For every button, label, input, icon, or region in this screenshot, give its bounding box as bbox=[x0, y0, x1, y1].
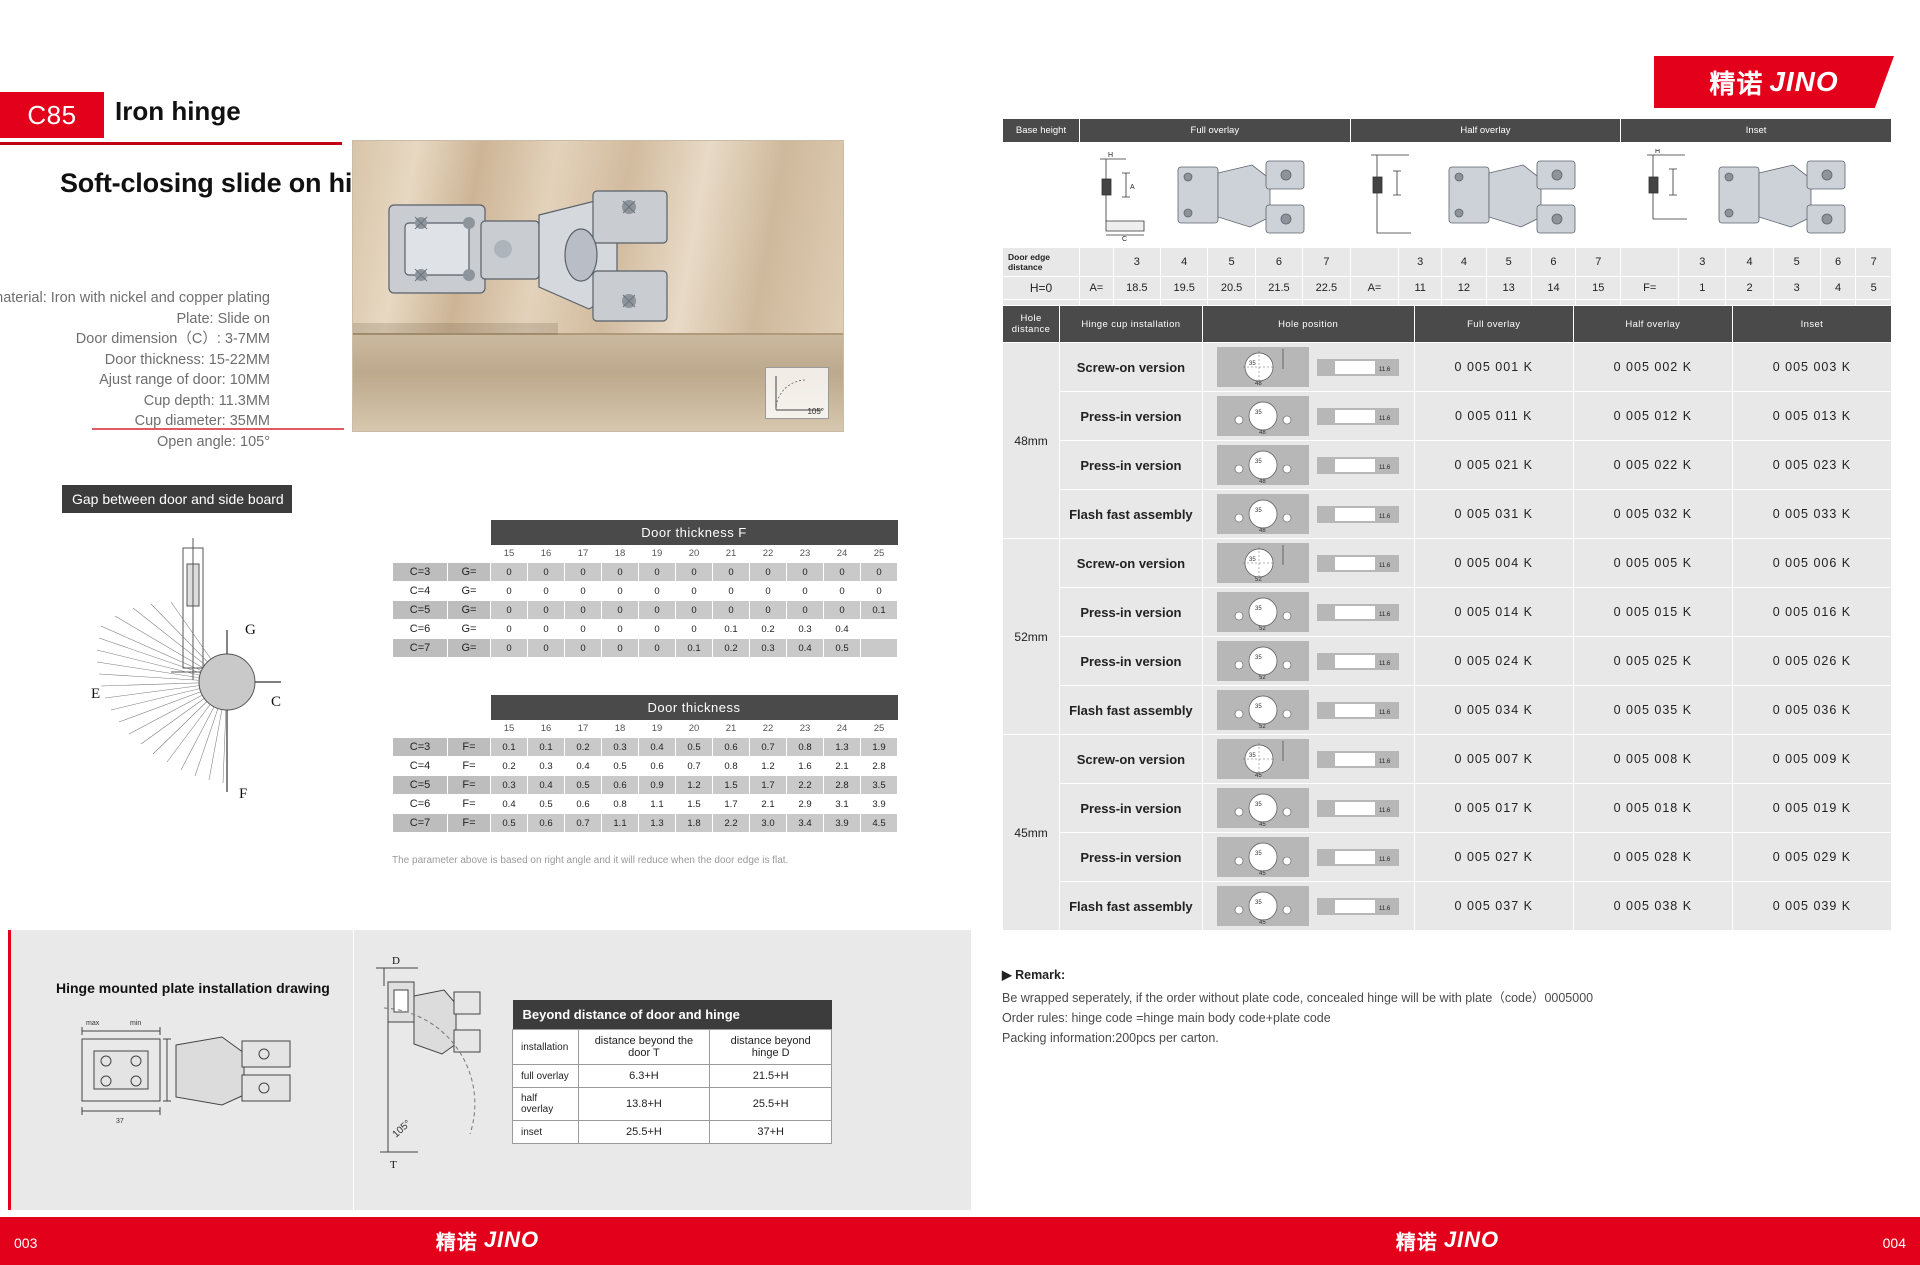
hinge-illustration bbox=[381, 167, 701, 347]
table-row: Press-in version 354811.6 0 005 021 K 0 … bbox=[1003, 441, 1892, 490]
svg-text:35: 35 bbox=[1255, 802, 1262, 808]
remark-block: ▶ Remark: Be wrapped seperately, if the … bbox=[1002, 965, 1702, 1048]
fan-label-E: E bbox=[91, 686, 100, 702]
f-col: 15 bbox=[491, 720, 528, 738]
col-half-overlay: Half overlay bbox=[1350, 119, 1621, 143]
g-col: 25 bbox=[861, 545, 898, 563]
col-hole-distance: Hole distance bbox=[1003, 306, 1060, 343]
label-angle: 105° bbox=[391, 1118, 414, 1140]
g-col: 23 bbox=[787, 545, 824, 563]
svg-text:35: 35 bbox=[1249, 753, 1256, 759]
table-row: 52mm Screw-on version 355211.6 0 005 004… bbox=[1003, 539, 1892, 588]
g-col: 15 bbox=[491, 545, 528, 563]
table-note: The parameter above is based on right an… bbox=[392, 855, 792, 866]
f-col: 23 bbox=[787, 720, 824, 738]
svg-text:52: 52 bbox=[1259, 675, 1266, 681]
f-col: 20 bbox=[676, 720, 713, 738]
brand-cn: 精诺 bbox=[1396, 1226, 1438, 1255]
dim-min: min bbox=[130, 1020, 141, 1027]
table-row: C=4 G= 0 0 0 0 0 0 0 0 0 0 0 bbox=[393, 582, 898, 601]
angle-label: 105° bbox=[807, 407, 824, 416]
col-hinge-cup: Hinge cup installation bbox=[1060, 306, 1202, 343]
svg-text:11.6: 11.6 bbox=[1379, 661, 1391, 667]
brand-en: JINO bbox=[1444, 1227, 1499, 1253]
remark-line: Packing information:200pcs per carton. bbox=[1002, 1028, 1702, 1048]
col-hole-position: Hole position bbox=[1202, 306, 1414, 343]
install-drawing-title: Hinge mounted plate installation drawing bbox=[56, 980, 330, 996]
svg-text:11.6: 11.6 bbox=[1379, 416, 1391, 422]
svg-text:35: 35 bbox=[1255, 655, 1262, 661]
gap-f-table: Door thickness 15 16 17 18 19 20 21 22 2… bbox=[392, 695, 898, 833]
f-col: 25 bbox=[861, 720, 898, 738]
door-overlay-drawing: D T 105° bbox=[358, 952, 488, 1182]
spec-line: Door dimension（C）: 3-7MM bbox=[0, 329, 270, 350]
title-divider bbox=[0, 142, 342, 145]
spec-line: Cup depth: 11.3MM bbox=[0, 391, 270, 412]
spec-line: Door thickness: 15-22MM bbox=[0, 350, 270, 371]
table-row: C=6 F= 0.4 0.5 0.6 0.8 1.1 1.5 1.7 2.1 2… bbox=[393, 795, 898, 814]
svg-text:11.6: 11.6 bbox=[1379, 563, 1391, 569]
fan-label-F: F bbox=[239, 786, 247, 802]
g-col: 20 bbox=[676, 545, 713, 563]
svg-text:35: 35 bbox=[1255, 459, 1262, 465]
brand-cn: 精诺 bbox=[436, 1226, 478, 1255]
svg-text:52: 52 bbox=[1255, 577, 1262, 583]
table-row: inset 25.5+H 37+H bbox=[513, 1121, 832, 1144]
svg-text:A: A bbox=[1130, 184, 1135, 191]
angle-callout: 105° bbox=[765, 367, 829, 419]
table-row: C=6 G= 0 0 0 0 0 0 0.1 0.2 0.3 0.4 bbox=[393, 620, 898, 639]
table-row: half overlay 13.8+H 25.5+H bbox=[513, 1088, 832, 1121]
col-full-overlay: Full overlay bbox=[1080, 119, 1351, 143]
svg-text:35: 35 bbox=[1249, 361, 1256, 367]
gap-g-table: Door thickness F 15 16 17 18 19 20 21 22… bbox=[392, 520, 898, 658]
hole-distance-48: 48mm bbox=[1003, 343, 1060, 539]
svg-text:45: 45 bbox=[1259, 871, 1266, 877]
g-col: 16 bbox=[528, 545, 565, 563]
product-code-table: Hole distance Hinge cup installation Hol… bbox=[1002, 305, 1892, 931]
spec-line: Ajust range of door: 10MM bbox=[0, 370, 270, 391]
headline: Soft-closing slide on hinge bbox=[60, 168, 400, 199]
g-col: 21 bbox=[713, 545, 750, 563]
svg-text:C: C bbox=[1122, 236, 1127, 241]
table-row: C=4 F= 0.2 0.3 0.4 0.5 0.6 0.7 0.8 1.2 1… bbox=[393, 757, 898, 776]
gap-banner: Gap between door and side board bbox=[62, 485, 292, 513]
svg-text:45: 45 bbox=[1255, 773, 1262, 779]
col-inset: Inset bbox=[1621, 119, 1892, 143]
table-row: Press-in version 354811.6 0 005 011 K 0 … bbox=[1003, 392, 1892, 441]
product-code-badge: C85 bbox=[0, 92, 104, 138]
page-number-right: 004 bbox=[1883, 1235, 1906, 1251]
hole-position-graphic: 3548 11.6 bbox=[1207, 347, 1410, 387]
svg-text:11.6: 11.6 bbox=[1379, 514, 1391, 520]
table-row: C=7 G= 0 0 0 0 0 0.1 0.2 0.3 0.4 0.5 bbox=[393, 639, 898, 658]
table-row: Flash fast assembly 355211.6 0 005 034 K… bbox=[1003, 686, 1892, 735]
svg-text:48: 48 bbox=[1255, 381, 1262, 387]
spec-line: Mai material: Iron with nickel and coppe… bbox=[0, 288, 270, 309]
product-type-title: Iron hinge bbox=[115, 96, 241, 127]
svg-text:35: 35 bbox=[1249, 557, 1256, 563]
svg-text:52: 52 bbox=[1259, 626, 1266, 632]
col-half-overlay: Half overlay bbox=[1573, 306, 1732, 343]
g-col: 18 bbox=[602, 545, 639, 563]
footer-logo-left: 精诺 JINO bbox=[402, 1223, 574, 1257]
f-table-title: Door thickness bbox=[491, 695, 898, 720]
table-row: C=3 G= 0 0 0 0 0 0 0 0 0 0 0 bbox=[393, 563, 898, 582]
beyond-distance-table: Beyond distance of door and hinge instal… bbox=[512, 1000, 832, 1144]
f-col: 16 bbox=[528, 720, 565, 738]
panel-divider bbox=[353, 930, 354, 1210]
inset-diagram: H bbox=[1623, 149, 1853, 241]
table-row: Press-in version 354511.6 0 005 017 K 0 … bbox=[1003, 784, 1892, 833]
remark-line: Order rules: hinge code =hinge main body… bbox=[1002, 1008, 1702, 1028]
hole-distance-45: 45mm bbox=[1003, 735, 1060, 931]
svg-text:45: 45 bbox=[1259, 920, 1266, 926]
catalog-spread: C85 Iron hinge Soft-closing slide on hin… bbox=[0, 0, 1920, 1265]
table-row: Press-in version 354511.6 0 005 027 K 0 … bbox=[1003, 833, 1892, 882]
mounted-plate-drawing: max min 37 bbox=[72, 1005, 302, 1135]
svg-text:H: H bbox=[1655, 149, 1660, 155]
g-col: 19 bbox=[639, 545, 676, 563]
svg-text:11.6: 11.6 bbox=[1379, 906, 1391, 912]
full-overlay-diagram: H A C bbox=[1082, 149, 1312, 241]
f-col: 24 bbox=[824, 720, 861, 738]
svg-text:48: 48 bbox=[1259, 528, 1266, 534]
half-overlay-diagram bbox=[1353, 149, 1583, 241]
table-row: C=5 G= 0 0 0 0 0 0 0 0 0 0 0.1 bbox=[393, 601, 898, 620]
svg-text:45: 45 bbox=[1259, 822, 1266, 828]
table-row: full overlay 6.3+H 21.5+H bbox=[513, 1065, 832, 1088]
table-row: 48mm Screw-on version 3548 11.6 0 005 00… bbox=[1003, 343, 1892, 392]
svg-text:35: 35 bbox=[1255, 851, 1262, 857]
svg-text:48: 48 bbox=[1259, 430, 1266, 436]
hole-distance-52: 52mm bbox=[1003, 539, 1060, 735]
svg-text:35: 35 bbox=[1255, 606, 1262, 612]
svg-text:11.6: 11.6 bbox=[1379, 710, 1391, 716]
svg-text:35: 35 bbox=[1255, 508, 1262, 514]
brand-en: JINO bbox=[484, 1227, 539, 1253]
svg-text:52: 52 bbox=[1259, 724, 1266, 730]
f-col: 22 bbox=[750, 720, 787, 738]
col-inset: Inset bbox=[1732, 306, 1891, 343]
fan-label-C: C bbox=[271, 694, 281, 710]
dim-max: max bbox=[86, 1020, 100, 1027]
door-edge-row: Door edge distance 3 4 5 6 7 3 4 5 6 7 3… bbox=[1003, 248, 1892, 277]
page-left: C85 Iron hinge Soft-closing slide on hin… bbox=[0, 0, 975, 1265]
g-col: 17 bbox=[565, 545, 602, 563]
table-row: Press-in version 355211.6 0 005 024 K 0 … bbox=[1003, 637, 1892, 686]
f-col: 17 bbox=[565, 720, 602, 738]
f-col: 21 bbox=[713, 720, 750, 738]
header-logo: 精诺 JINO bbox=[1654, 56, 1894, 108]
svg-text:48: 48 bbox=[1259, 479, 1266, 485]
door-edge-distance-label: Door edge distance bbox=[1003, 248, 1080, 277]
col-hinge-distance: distance beyond hinge D bbox=[710, 1030, 832, 1065]
table-row: C=3 F= 0.1 0.1 0.2 0.3 0.4 0.5 0.6 0.7 0… bbox=[393, 738, 898, 757]
remark-line: Be wrapped seperately, if the order with… bbox=[1002, 988, 1702, 1008]
table-row: H=0 A= 18.5 19.5 20.5 21.5 22.5 A= 11 12… bbox=[1003, 277, 1892, 300]
svg-text:11.6: 11.6 bbox=[1379, 857, 1391, 863]
col-installation: installation bbox=[513, 1030, 579, 1065]
svg-text:11.6: 11.6 bbox=[1379, 808, 1391, 814]
beyond-title: Beyond distance of door and hinge bbox=[513, 1000, 832, 1030]
col-full-overlay: Full overlay bbox=[1414, 306, 1573, 343]
svg-text:35: 35 bbox=[1255, 704, 1262, 710]
spec-line: Plate: Slide on bbox=[0, 309, 270, 330]
fan-label-G: G bbox=[245, 622, 256, 638]
footer-logo-right: 精诺 JINO bbox=[1362, 1223, 1534, 1257]
f-col: 18 bbox=[602, 720, 639, 738]
table-row: C=5 F= 0.3 0.4 0.5 0.6 0.9 1.2 1.5 1.7 2… bbox=[393, 776, 898, 795]
svg-text:11.6: 11.6 bbox=[1379, 612, 1391, 618]
svg-text:11.6: 11.6 bbox=[1379, 759, 1391, 765]
g-table-title: Door thickness F bbox=[491, 520, 898, 545]
product-photo: 105° bbox=[352, 140, 844, 432]
svg-text:H: H bbox=[1108, 152, 1113, 159]
table-row: Flash fast assembly 354811.6 0 005 031 K… bbox=[1003, 490, 1892, 539]
table-row: Flash fast assembly 354511.6 0 005 037 K… bbox=[1003, 882, 1892, 931]
page-number-left: 003 bbox=[14, 1235, 37, 1251]
svg-text:11.6: 11.6 bbox=[1379, 367, 1391, 373]
f-col: 19 bbox=[639, 720, 676, 738]
svg-text:11.6: 11.6 bbox=[1379, 465, 1391, 471]
door-swing-fan-diagram: E G C F bbox=[75, 530, 335, 840]
label-D: D bbox=[392, 955, 400, 967]
table-header-row: installation distance beyond the door T … bbox=[513, 1030, 832, 1065]
table-row: Press-in version 355211.6 0 005 014 K 0 … bbox=[1003, 588, 1892, 637]
spec-divider bbox=[92, 428, 344, 430]
g-col: 24 bbox=[824, 545, 861, 563]
remark-title: ▶ Remark: bbox=[1002, 965, 1702, 985]
spec-line: Open angle: 105° bbox=[0, 432, 270, 453]
page-right: 精诺 JINO Base height Full overlay Half ov… bbox=[975, 0, 1920, 1265]
brand-cn: 精诺 bbox=[1709, 64, 1763, 101]
col-door-distance: distance beyond the door T bbox=[578, 1030, 710, 1065]
svg-text:35: 35 bbox=[1255, 900, 1262, 906]
dim-37: 37 bbox=[116, 1118, 124, 1125]
label-T: T bbox=[390, 1159, 397, 1171]
brand-en: JINO bbox=[1769, 66, 1838, 98]
col-base-height: Base height bbox=[1003, 119, 1080, 143]
table-row: C=7 F= 0.5 0.6 0.7 1.1 1.3 1.8 2.2 3.0 3… bbox=[393, 814, 898, 833]
g-col: 22 bbox=[750, 545, 787, 563]
svg-text:35: 35 bbox=[1255, 410, 1262, 416]
table-row: 45mm Screw-on version 354511.6 0 005 007… bbox=[1003, 735, 1892, 784]
